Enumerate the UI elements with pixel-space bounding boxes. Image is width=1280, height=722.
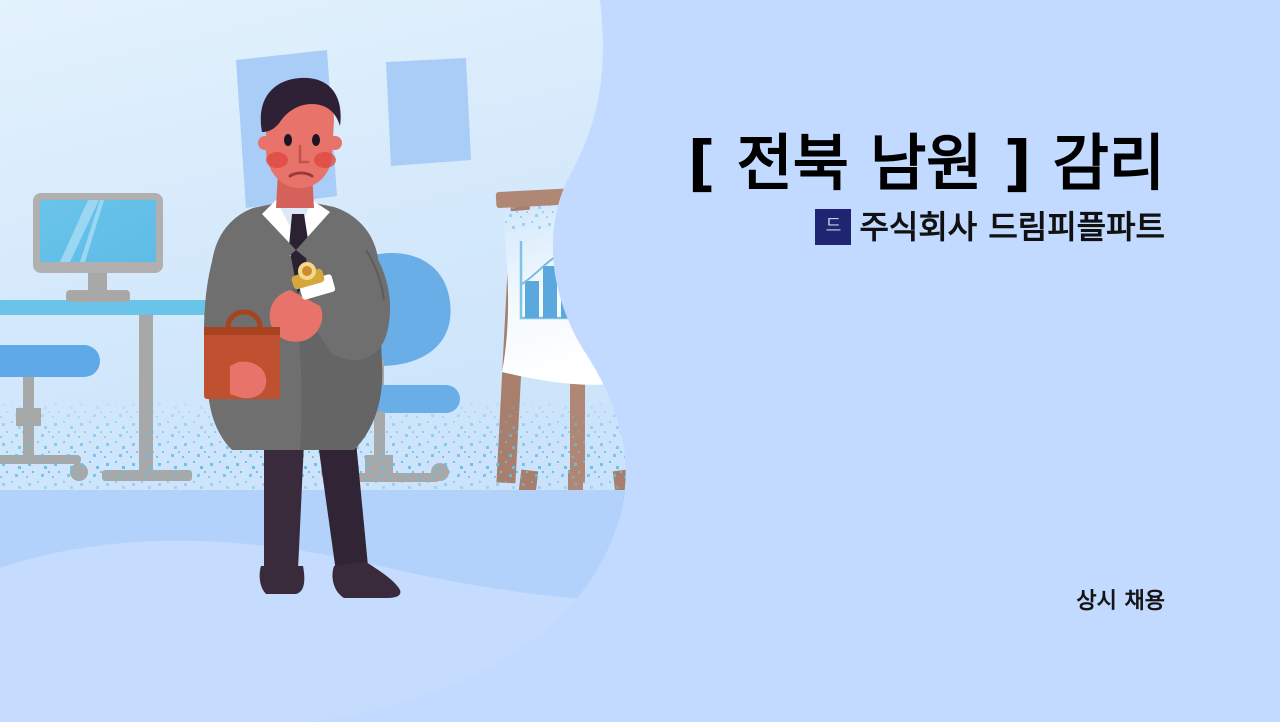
company-name: 주식회사 드림피플파트	[859, 211, 1165, 243]
status-badge: 상시 채용	[1076, 583, 1165, 615]
company-logo-badge: 드	[815, 209, 851, 245]
blush-right	[314, 152, 336, 168]
blush-left	[266, 152, 288, 168]
wall-poster-small	[386, 58, 471, 166]
title-block: [ 전북 남원 ] 감리 드 주식회사 드림피플파트	[688, 131, 1165, 245]
job-posting-banner: [ 전북 남원 ] 감리 드 주식회사 드림피플파트 상시 채용	[0, 0, 1280, 722]
shoe-left	[260, 566, 305, 594]
page-title: [ 전북 남원 ] 감리	[688, 131, 1165, 197]
text-panel: [ 전북 남원 ] 감리 드 주식회사 드림피플파트 상시 채용	[640, 0, 1280, 722]
company-row: 드 주식회사 드림피플파트	[688, 209, 1165, 245]
office-illustration	[0, 0, 740, 722]
eye-left	[284, 134, 292, 146]
eye-right	[312, 134, 320, 146]
